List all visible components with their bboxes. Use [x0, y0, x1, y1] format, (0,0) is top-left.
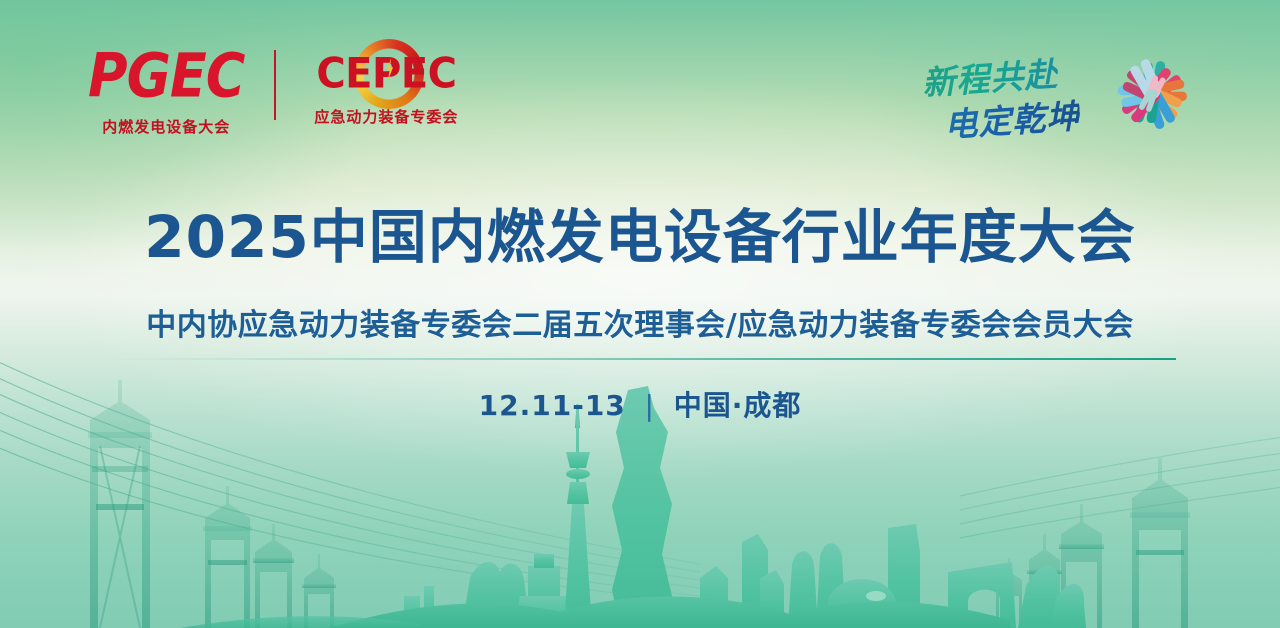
pgec-logo[interactable]: PGEC 内燃发电设备大会	[88, 46, 244, 137]
dateline-separator: |	[637, 389, 663, 422]
slogan-group: 新程共赴 电定乾坤	[920, 34, 1208, 154]
divider-rule	[104, 358, 1176, 360]
event-date: 12.11-13	[479, 389, 626, 422]
logo-divider	[274, 50, 276, 120]
city-skyline-illustration	[0, 328, 1280, 628]
cepec-logo[interactable]: CEPEC 应急动力装备专委会	[306, 46, 466, 108]
logo-row: PGEC 内燃发电设备大会 CEPEC 应急动力装备专委会	[88, 46, 466, 137]
page-title: 2025中国内燃发电设备行业年度大会	[0, 206, 1280, 269]
date-location-line: 12.11-13 | 中国·成都	[0, 384, 1280, 424]
slogan-line-2: 电定乾坤	[942, 89, 1081, 146]
conference-banner: PGEC 内燃发电设备大会 CEPEC 应急动力装备专委会 新程共赴 电定乾坤	[0, 0, 1280, 628]
cepec-wordmark: CEPEC	[306, 53, 466, 95]
raised-hands-icon	[1096, 38, 1208, 150]
pgec-subtitle: 内燃发电设备大会	[102, 116, 230, 137]
page-subtitle: 中内协应急动力装备专委会二届五次理事会/应急动力装备专委会会员大会	[0, 300, 1280, 344]
pgec-wordmark: PGEC	[88, 46, 244, 106]
cepec-subtitle: 应急动力装备专委会	[306, 106, 466, 127]
event-location: 中国·成都	[674, 389, 802, 422]
slogan-calligraphy: 新程共赴 电定乾坤	[920, 34, 1092, 154]
